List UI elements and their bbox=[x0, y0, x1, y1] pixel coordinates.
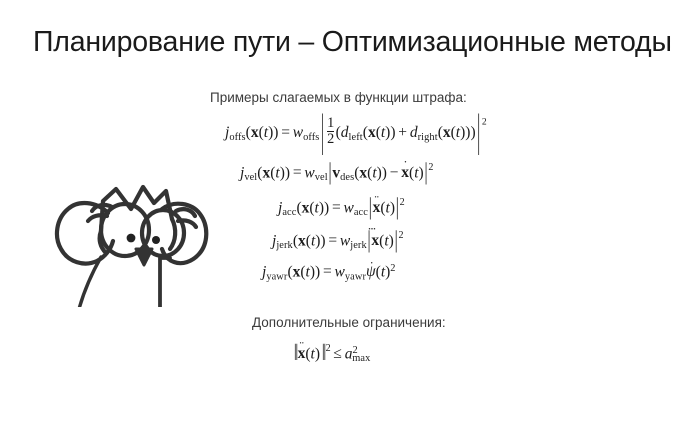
fraction-numerator: 1 bbox=[327, 116, 334, 131]
slide-canvas: Планирование пути – Оптимизационные мето… bbox=[0, 0, 700, 437]
abs-bar-close: | bbox=[394, 229, 399, 253]
sym-w: w bbox=[304, 164, 314, 181]
x-ddot-accent-group: ¨x bbox=[298, 346, 306, 362]
dot-accent: ˙ bbox=[369, 260, 373, 273]
abs-bar-open: | bbox=[319, 110, 325, 156]
sub-vel-w: vel bbox=[315, 172, 328, 183]
sym-x-dleft: x bbox=[368, 124, 376, 141]
sym-d-left: d bbox=[341, 124, 349, 141]
equation-acceleration-cost: jacc(x(t))=wacc|¨x(t)|2 bbox=[278, 198, 405, 219]
sym-plus: + bbox=[396, 124, 410, 141]
sub-max: max bbox=[352, 353, 370, 364]
sym-w: w bbox=[293, 124, 303, 141]
sym-equals: = bbox=[329, 199, 343, 216]
sym-equals: = bbox=[278, 124, 292, 141]
abs-bar-close: | bbox=[424, 161, 429, 185]
exponent-two: 2 bbox=[400, 197, 405, 208]
caption-additional-constraints: Дополнительные ограничения: bbox=[252, 315, 446, 330]
abs-bar-open: | bbox=[328, 161, 333, 185]
sub-yawr-w: yawr bbox=[345, 271, 366, 282]
sym-w: w bbox=[344, 199, 354, 216]
ddot-accent: ¨ bbox=[375, 194, 379, 207]
equation-jerk-cost: jjerk(x(t))=wjerk|⃛x(t)|2 bbox=[272, 231, 404, 252]
sym-x: x bbox=[298, 232, 306, 249]
sym-x-dright: x bbox=[443, 124, 451, 141]
x-dot-accent-group: ˙x bbox=[401, 165, 409, 181]
cat-icon bbox=[42, 157, 222, 307]
caption-penalty-terms: Примеры слагаемых в функции штрафа: bbox=[210, 90, 467, 105]
norm-bar-close: ‖ bbox=[320, 342, 326, 365]
sym-minus: − bbox=[387, 164, 401, 181]
dot-accent: ˙ bbox=[403, 159, 407, 172]
cat-right-pupil bbox=[152, 236, 160, 244]
sym-equals: = bbox=[320, 263, 334, 280]
psi-dot-accent-group: ˙ψ bbox=[366, 264, 376, 280]
paren-close: ) bbox=[320, 232, 325, 249]
sym-v-des: v bbox=[332, 164, 340, 181]
sub-vel: vel bbox=[244, 172, 257, 183]
exponent-two: 2 bbox=[482, 117, 487, 128]
ddot-accent: ¨ bbox=[300, 340, 304, 353]
dleft-paren-close: ) bbox=[390, 124, 395, 141]
sym-equals: = bbox=[290, 164, 304, 181]
sym-leq: ≤ bbox=[331, 345, 345, 362]
x-dddot-accent-group: ⃛x bbox=[371, 233, 379, 249]
sym-x-vdes: x bbox=[359, 164, 367, 181]
exponent-two: 2 bbox=[390, 263, 395, 274]
exponent-two: 2 bbox=[428, 162, 433, 173]
abs-bar-close: | bbox=[476, 110, 482, 156]
exponent-two: 2 bbox=[398, 230, 403, 241]
equation-acceleration-constraint: ‖¨x(t)‖2≤a2max bbox=[292, 344, 370, 365]
x-ddot-accent-group: ¨x bbox=[373, 200, 381, 216]
fraction-denominator: 2 bbox=[327, 131, 334, 147]
cartoon-cat-illustration bbox=[42, 157, 222, 312]
sub-acc-w: acc bbox=[354, 207, 368, 218]
cat-left-pupil bbox=[127, 234, 136, 243]
cat-right-cheek bbox=[170, 219, 175, 249]
sub-right: right bbox=[418, 132, 438, 143]
sub-offs-w: offs bbox=[303, 132, 319, 143]
abs-bar-close: | bbox=[395, 196, 400, 220]
sub-acc: acc bbox=[282, 207, 296, 218]
page-title: Планирование пути – Оптимизационные мето… bbox=[33, 26, 673, 59]
sym-x-dddot: x bbox=[371, 232, 379, 249]
sym-d-right: d bbox=[410, 124, 418, 141]
equation-yawrate-cost: jyawr(x(t))=wyawr˙ψ(t)2 bbox=[262, 264, 395, 283]
sym-equals: = bbox=[326, 232, 340, 249]
sub-offs: offs bbox=[229, 132, 245, 143]
sub-jerk-w: jerk bbox=[350, 240, 367, 251]
sub-jerk: jerk bbox=[276, 240, 293, 251]
sub-des: des bbox=[340, 172, 354, 183]
sym-w: w bbox=[335, 263, 345, 280]
equation-velocity-cost: jvel(x(t))=wvel|vdes(x(t))−˙x(t)|2 bbox=[240, 163, 433, 184]
equation-offset-cost: joffs(x(t))=woffs|12(dleft(x(t))+dright(… bbox=[225, 116, 487, 147]
sub-left: left bbox=[349, 132, 363, 143]
cat-right-arm bbox=[160, 258, 170, 307]
fraction-one-half: 12 bbox=[326, 116, 336, 147]
cat-nose bbox=[136, 249, 152, 265]
sym-x: x bbox=[251, 124, 259, 141]
sym-w: w bbox=[340, 232, 350, 249]
exponent-two: 2 bbox=[326, 343, 331, 354]
sub-yawr: yawr bbox=[266, 271, 287, 282]
